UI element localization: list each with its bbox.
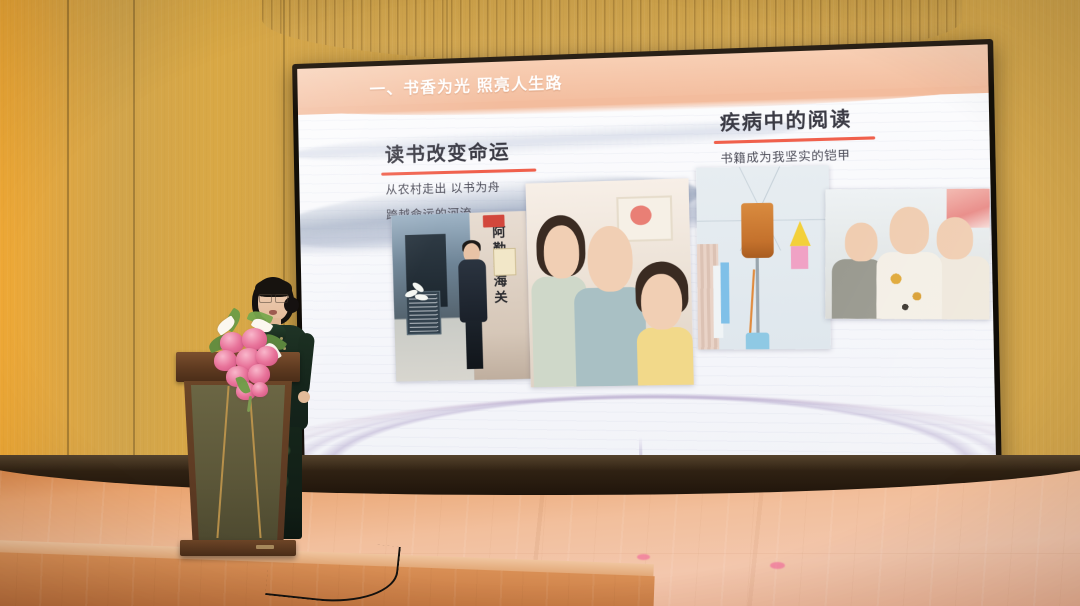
woman-right-body <box>933 257 989 320</box>
slide-banner-title: 一、书香为光 照亮人生路 <box>369 71 563 100</box>
book-left-page <box>302 349 641 467</box>
section-heading-left: 读书改变命运 <box>385 137 511 171</box>
book-right-page <box>639 344 996 467</box>
photo-lily-bouquet <box>404 284 431 307</box>
officer-uniform <box>458 259 487 323</box>
blue-ribbon <box>721 262 730 324</box>
podium-base <box>180 540 296 556</box>
screen-bezel: 一、书香为光 照亮人生路 读书改变命运 从农村走出 以书为舟 跨越命运的河流 疾… <box>292 39 1002 474</box>
photo-notice-sheet <box>493 248 517 276</box>
podium-flower-arrangement <box>204 306 290 402</box>
photo-red-banner <box>483 215 505 227</box>
orchid-bloom <box>256 346 278 366</box>
woman-right-face <box>937 217 973 259</box>
woman-center-face <box>889 207 929 254</box>
woman-center-body <box>876 251 942 319</box>
open-book-watermark <box>302 338 996 467</box>
floor-marker-dot <box>770 562 785 569</box>
iv-pole <box>755 258 759 338</box>
iv-tube <box>748 269 755 342</box>
led-screen[interactable]: 一、书香为光 照亮人生路 读书改变命运 从农村走出 以书为舟 跨越命运的河流 疾… <box>292 39 1002 474</box>
patients-group-photo <box>825 189 989 320</box>
child-face <box>640 273 683 330</box>
iv-bag <box>741 203 773 258</box>
auditorium-scene: 一、书香为光 照亮人生路 读书改变命运 从农村走出 以书为舟 跨越命运的河流 疾… <box>0 0 1080 606</box>
podium-front-panel <box>189 385 287 540</box>
orchid-bloom <box>248 364 270 384</box>
podium-plate <box>256 545 274 549</box>
section-heading-right: 疾病中的阅读 <box>720 104 853 139</box>
orchid-bloom <box>252 382 268 397</box>
woman-left-face <box>845 223 878 262</box>
iv-drip-photo <box>696 165 831 349</box>
slide-surface: 一、书香为光 照亮人生路 读书改变命运 从农村走出 以书为舟 跨越命运的河流 疾… <box>297 44 996 467</box>
glasses-icon <box>259 294 288 301</box>
floor-marker-dot <box>637 554 650 560</box>
girl-face <box>543 225 580 279</box>
iv-pink-tag <box>791 246 809 268</box>
